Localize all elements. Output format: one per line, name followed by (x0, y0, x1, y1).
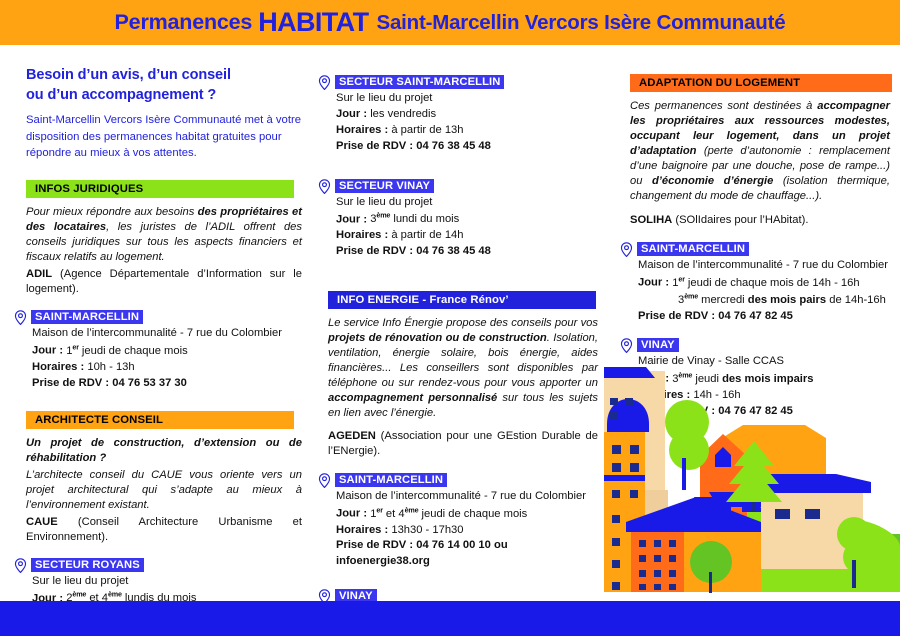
location-name-badge: SAINT-MARCELLIN (637, 242, 749, 256)
location-booking: Prise de RDV : 04 76 14 00 10 ou infoene… (336, 538, 600, 570)
ribbon-label: INFO ENERGIE - France Rénov’ (328, 291, 596, 309)
intro-body: Saint-Marcellin Vercors Isère Communauté… (26, 112, 304, 161)
intro-title-line1: Besoin d’un avis, d’un conseil (26, 66, 304, 86)
location-block-secteur-saint-marcellin: SECTEUR SAINT-MARCELLIN Sur le lieu du p… (318, 75, 600, 155)
location-pin-icon (14, 310, 27, 325)
column-left: Besoin d’un avis, d’un conseil ou d’un a… (14, 66, 304, 636)
infos-juridiques-para2: ADIL (Agence Départementale d’Informatio… (26, 267, 304, 297)
location-name-badge: SECTEUR ROYANS (31, 558, 144, 572)
column-middle: SECTEUR SAINT-MARCELLIN Sur le lieu du p… (318, 66, 600, 636)
info-energie-para1: Le service Info Énergie propose des cons… (328, 316, 600, 421)
section-header-architecte-conseil: ARCHITECTE CONSEIL (14, 410, 304, 429)
ribbon-label: ARCHITECTE CONSEIL (26, 411, 294, 429)
location-hours: Horaires : à partir de 14h (336, 228, 600, 244)
info-energie-para2: AGEDEN (Association pour une GEstion Dur… (328, 429, 600, 459)
location-day: Jour : 1er jeudi de chaque mois de 14h -… (638, 274, 892, 292)
location-booking: Prise de RDV : 04 76 47 82 45 (638, 309, 892, 325)
page-title-part1: Permanences (115, 10, 253, 35)
ribbon-label: INFOS JURIDIQUES (26, 180, 294, 198)
location-hours: Horaires : 10h - 13h (32, 360, 304, 376)
location-booking: Prise de RDV : 04 76 38 45 48 (336, 244, 600, 260)
location-block-soliha-saint-marcellin: SAINT-MARCELLIN Maison de l’intercommuna… (620, 242, 892, 325)
infos-juridiques-para1: Pour mieux répondre aux besoins des prop… (26, 205, 304, 265)
adaptation-para2: SOLIHA (SOlIdaires pour l’HAbitat). (630, 213, 892, 228)
location-pin-icon (318, 473, 331, 488)
location-day: Jour : 3ème lundi du mois (336, 211, 600, 229)
adaptation-para1: Ces permanences sont destinées à accompa… (630, 99, 892, 204)
section-header-info-energie: INFO ENERGIE - France Rénov’ (318, 290, 600, 309)
location-name-badge: SECTEUR SAINT-MARCELLIN (335, 75, 504, 89)
location-pin-icon (620, 338, 633, 353)
location-address: Sur le lieu du projet (336, 195, 600, 211)
location-address: Maison de l’intercommunalité - 7 rue du … (638, 258, 892, 274)
location-pin-icon (14, 558, 27, 573)
location-address: Sur le lieu du projet (336, 91, 600, 107)
location-pin-icon (318, 75, 331, 90)
location-hours: Horaires : 13h30 - 17h30 (336, 523, 600, 539)
poster-page: Permanences HABITAT Saint-Marcellin Verc… (0, 0, 900, 636)
intro-title-line2: ou d’un accompagnement ? (26, 86, 304, 106)
architecte-conseil-para3: CAUE (Conseil Architecture Urbanisme et … (26, 515, 304, 545)
location-address: Maison de l’intercommunalité - 7 rue du … (336, 489, 600, 505)
location-booking: Prise de RDV : 04 76 38 45 48 (336, 139, 600, 155)
location-name-badge: SAINT-MARCELLIN (31, 310, 143, 324)
architecte-conseil-para2: L’architecte conseil du CAUE vous orient… (26, 468, 304, 513)
location-day: Jour : les vendredis (336, 107, 600, 123)
location-pin-icon (620, 242, 633, 257)
location-name-badge: VINAY (637, 338, 679, 352)
page-title: Permanences HABITAT Saint-Marcellin Verc… (0, 0, 900, 45)
location-name-badge: SAINT-MARCELLIN (335, 473, 447, 487)
page-title-part2: HABITAT (258, 7, 368, 38)
location-day: Jour : 1er jeudi de chaque mois (32, 342, 304, 360)
section-header-adaptation-du-logement: ADAPTATION DU LOGEMENT (620, 73, 892, 92)
town-skyline-illustration (583, 362, 900, 601)
section-header-infos-juridiques: INFOS JURIDIQUES (14, 179, 304, 198)
location-day-second: 3ème mercredi des mois pairs de 14h-16h (638, 292, 892, 310)
location-name-badge: SECTEUR VINAY (335, 179, 434, 193)
location-pin-icon (318, 179, 331, 194)
footer-bar (0, 601, 900, 636)
location-address: Maison de l’intercommunalité - 7 rue du … (32, 326, 304, 342)
location-block-energie-saint-marcellin: SAINT-MARCELLIN Maison de l’intercommuna… (318, 473, 600, 570)
intro-title: Besoin d’un avis, d’un conseil ou d’un a… (26, 66, 304, 105)
location-block-adil-saint-marcellin: SAINT-MARCELLIN Maison de l’intercommuna… (14, 310, 304, 391)
location-hours: Horaires : à partir de 13h (336, 123, 600, 139)
architecte-conseil-para1: Un projet de construction, d’extension o… (26, 436, 304, 466)
location-booking: Prise de RDV : 04 76 53 37 30 (32, 376, 304, 392)
location-address: Sur le lieu du projet (32, 574, 304, 590)
page-title-part3: Saint-Marcellin Vercors Isère Communauté (376, 11, 785, 35)
location-block-secteur-vinay: SECTEUR VINAY Sur le lieu du projet Jour… (318, 179, 600, 260)
ribbon-label: ADAPTATION DU LOGEMENT (630, 74, 892, 92)
location-day: Jour : 1er et 4ème jeudi de chaque mois (336, 505, 600, 523)
